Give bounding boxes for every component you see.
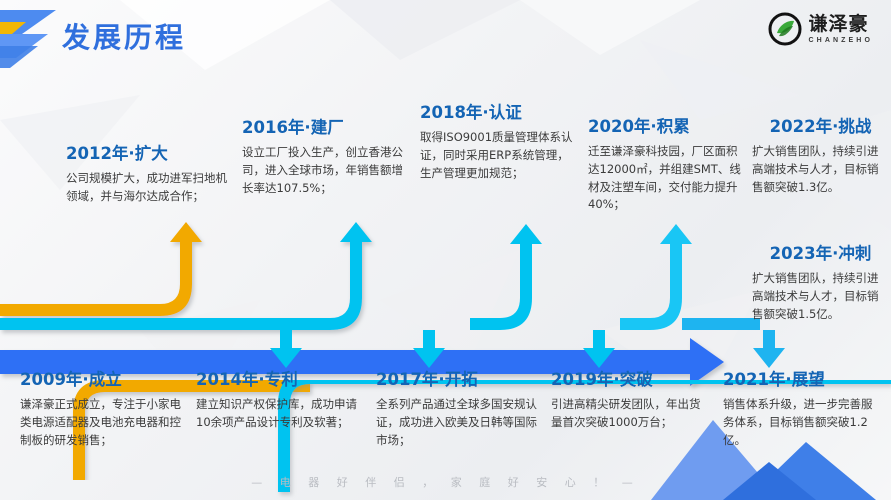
milestone-card-2017[interactable]: 2017年·开拓 全系列产品通过全球多国安规认证，成功进入欧美及日韩等国际市场； xyxy=(376,366,538,449)
slide-canvas: 发展历程 谦泽豪 CHANZEHO xyxy=(0,0,891,500)
logo-name-cn: 谦泽豪 xyxy=(809,15,873,34)
milestone-body-2009: 谦泽豪正式成立，专注于小家电类电源适配器及电池充电器和控制板的研发销售； xyxy=(20,396,185,449)
milestone-card-2018[interactable]: 2018年·认证 取得ISO9001质量管理体系认证，同时采用ERP系统管理，生… xyxy=(420,99,580,182)
milestone-year-2012: 2012年·扩大 xyxy=(66,140,231,164)
milestone-year-2019: 2019年·突破 xyxy=(551,366,711,390)
milestone-card-2012[interactable]: 2012年·扩大 公司规模扩大，成功进军扫地机领域，并与海尔达成合作； xyxy=(66,140,231,206)
milestone-card-2020[interactable]: 2020年·积累 迁至谦泽豪科技园，厂区面积达12000㎡，并组建SMT、线材及… xyxy=(588,113,748,214)
milestone-body-2016: 设立工厂投入生产，创立香港公司，进入全球市场，年销售额增长率达107.5%； xyxy=(242,144,405,197)
milestone-card-2009[interactable]: 2009年·成立 谦泽豪正式成立，专注于小家电类电源适配器及电池充电器和控制板的… xyxy=(20,366,185,449)
milestone-body-2014: 建立知识产权保护库，成功申请10余项产品设计专利及软著； xyxy=(196,396,361,432)
cyan-branch-2018 xyxy=(470,222,590,342)
milestone-year-2023: 2023年·冲刺 xyxy=(752,240,889,264)
milestone-card-2016[interactable]: 2016年·建厂 设立工厂投入生产，创立香港公司，进入全球市场，年销售额增长率达… xyxy=(242,114,405,197)
milestone-year-2016: 2016年·建厂 xyxy=(242,114,405,138)
milestone-year-2009: 2009年·成立 xyxy=(20,366,185,390)
milestone-card-2014[interactable]: 2014年·专利 建立知识产权保护库，成功申请10余项产品设计专利及软著； xyxy=(196,366,361,432)
milestone-body-2018: 取得ISO9001质量管理体系认证，同时采用ERP系统管理，生产管理更加规范； xyxy=(420,129,580,182)
milestone-year-2020: 2020年·积累 xyxy=(588,113,748,137)
cyan-branch-2020 xyxy=(620,222,760,342)
brand-logo: 谦泽豪 CHANZEHO xyxy=(768,12,873,46)
milestone-year-2014: 2014年·专利 xyxy=(196,366,361,390)
milestone-year-2018: 2018年·认证 xyxy=(420,99,580,123)
milestone-body-2019: 引进高精尖研发团队，年出货量首次突破1000万台； xyxy=(551,396,711,432)
corner-emblem-icon xyxy=(0,4,70,79)
footer-tagline: — 电 器 好 伴 侣 ， 家 庭 好 安 心 ！ — xyxy=(0,474,891,490)
leaf-circle-logo-icon xyxy=(768,12,802,46)
page-title: 发展历程 xyxy=(62,16,186,56)
milestone-year-2021: 2021年·展望 xyxy=(723,366,883,390)
milestone-body-2020: 迁至谦泽豪科技园，厂区面积达12000㎡，并组建SMT、线材及注塑车间，交付能力… xyxy=(588,143,748,214)
milestone-body-2022: 扩大销售团队，持续引进高端技术与人才，目标销售额突破1.3亿。 xyxy=(752,143,889,196)
milestone-card-2019[interactable]: 2019年·突破 引进高精尖研发团队，年出货量首次突破1000万台； xyxy=(551,366,711,432)
milestone-card-2021[interactable]: 2021年·展望 销售体系升级，进一步完善服务体系，目标销售额突破1.2亿。 xyxy=(723,366,883,449)
milestone-year-2017: 2017年·开拓 xyxy=(376,366,538,390)
milestone-body-2023: 扩大销售团队，持续引进高端技术与人才，目标销售额突破1.5亿。 xyxy=(752,270,889,323)
milestone-year-2022: 2022年·挑战 xyxy=(752,113,889,137)
milestone-body-2012: 公司规模扩大，成功进军扫地机领域，并与海尔达成合作； xyxy=(66,170,231,206)
milestone-card-2023[interactable]: 2023年·冲刺 扩大销售团队，持续引进高端技术与人才，目标销售额突破1.5亿。 xyxy=(752,240,889,323)
milestone-body-2021: 销售体系升级，进一步完善服务体系，目标销售额突破1.2亿。 xyxy=(723,396,883,449)
logo-name-en: CHANZEHO xyxy=(809,37,873,44)
milestone-card-2022[interactable]: 2022年·挑战 扩大销售团队，持续引进高端技术与人才，目标销售额突破1.3亿。 xyxy=(752,113,889,196)
milestone-body-2017: 全系列产品通过全球多国安规认证，成功进入欧美及日韩等国际市场； xyxy=(376,396,538,449)
